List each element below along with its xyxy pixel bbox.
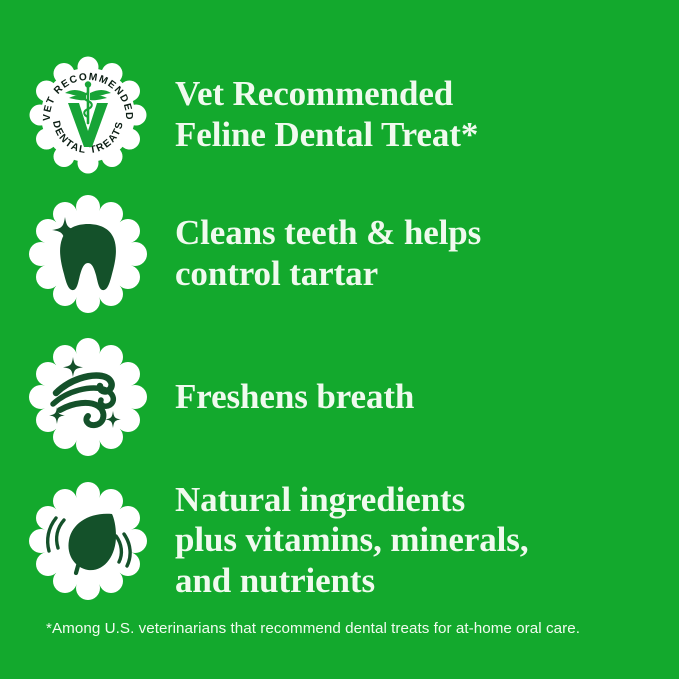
feature-row-freshens-breath: Freshens breath — [0, 327, 679, 467]
leaf-natural-icon — [28, 478, 148, 604]
feature-label-vet-recommended: Vet Recommended Feline Dental Treat* — [175, 74, 478, 155]
feature-label-freshens-breath: Freshens breath — [175, 377, 414, 418]
fresh-breath-swirl-icon — [28, 334, 148, 460]
feature-label-cleans-teeth: Cleans teeth & helps control tartar — [175, 213, 481, 294]
badge-container-natural-ingredients — [0, 478, 175, 604]
feature-row-natural-ingredients: Natural ingredients plus vitamins, miner… — [0, 468, 679, 613]
footnote-disclaimer: *Among U.S. veterinarians that recommend… — [46, 620, 646, 638]
sparkling-tooth-icon — [28, 191, 148, 317]
badge-container-freshens-breath — [0, 334, 175, 460]
product-benefits-panel: VET RECOMMENDED DENTAL TREATS — [0, 0, 679, 679]
feature-label-natural-ingredients: Natural ingredients plus vitamins, miner… — [175, 480, 528, 602]
vet-recommended-seal-icon: VET RECOMMENDED DENTAL TREATS — [28, 52, 148, 178]
badge-container-cleans-teeth — [0, 191, 175, 317]
feature-row-cleans-teeth: Cleans teeth & helps control tartar — [0, 184, 679, 324]
badge-container-vet-recommended: VET RECOMMENDED DENTAL TREATS — [0, 52, 175, 178]
feature-row-vet-recommended: VET RECOMMENDED DENTAL TREATS — [0, 42, 679, 187]
